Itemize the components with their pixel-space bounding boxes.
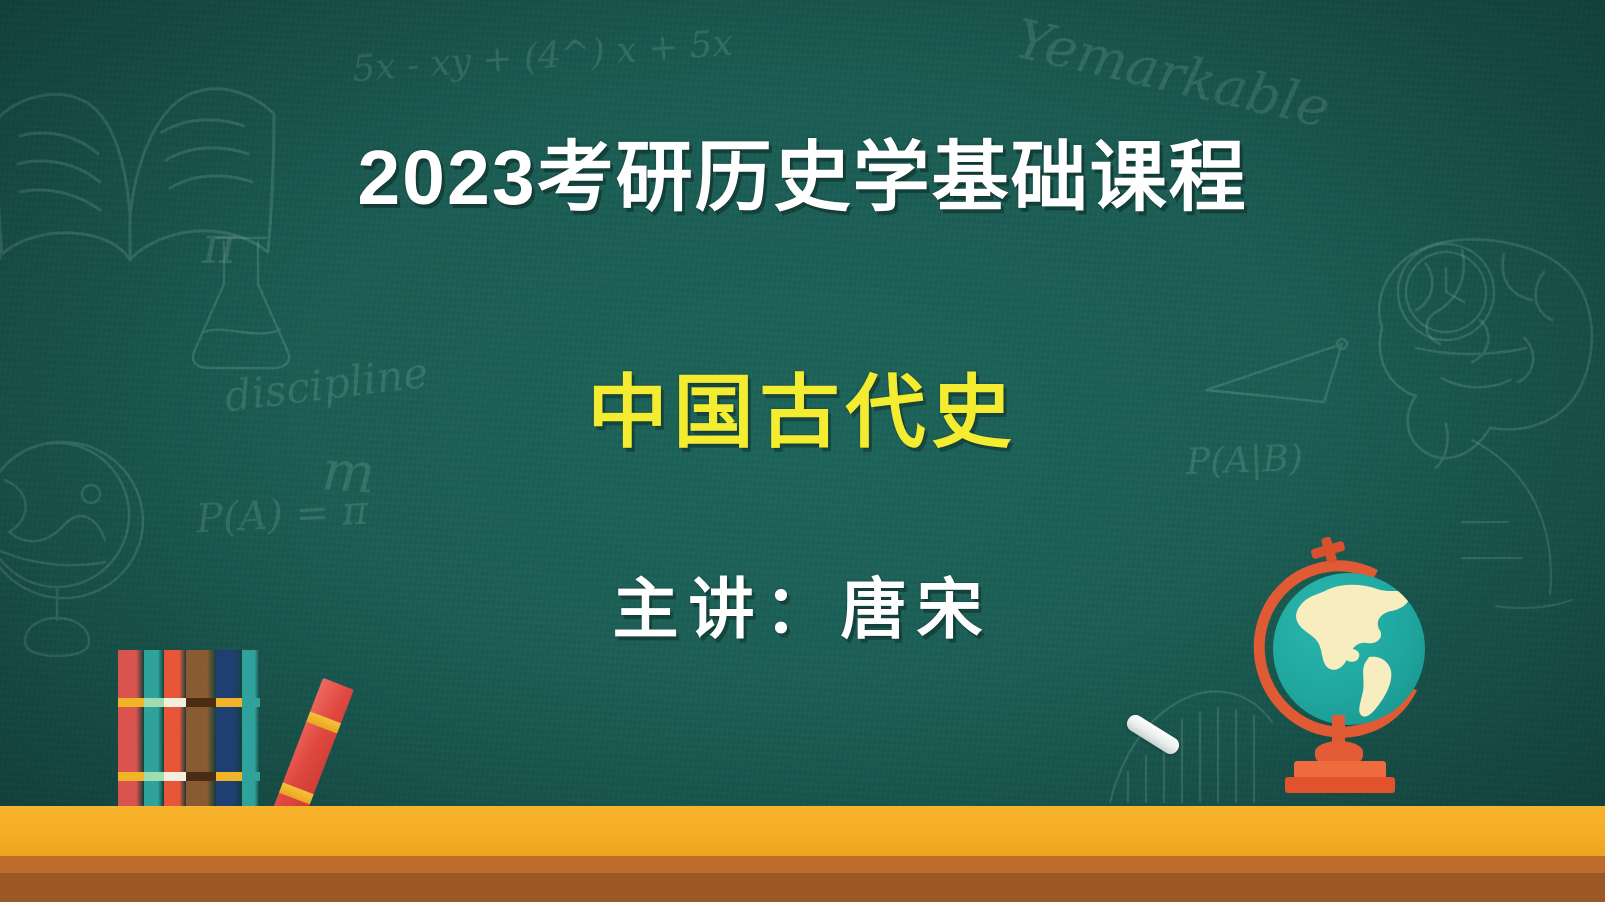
globe-knob bbox=[1315, 741, 1363, 763]
book-spine bbox=[216, 650, 242, 806]
book-spine bbox=[144, 650, 164, 806]
book-band bbox=[216, 772, 242, 781]
board-ledge-top bbox=[0, 806, 1605, 856]
globe-sphere bbox=[1273, 573, 1425, 725]
chalk-note-script-top: Yemarkable bbox=[1009, 7, 1336, 141]
book-band bbox=[186, 772, 216, 781]
course-subtitle: 中国古代史 bbox=[0, 348, 1605, 464]
book-spine bbox=[118, 650, 144, 806]
board-ledge-bottom bbox=[0, 873, 1605, 902]
book-stack bbox=[118, 650, 283, 806]
globe-model bbox=[1238, 533, 1448, 806]
chalk-note-formula-left: P(A) = π bbox=[195, 488, 369, 543]
book-band bbox=[242, 698, 260, 707]
board-ledge-mid bbox=[0, 856, 1605, 873]
blackboard: 5x - xy + (4^) x + 5x Yemarkable discipl… bbox=[0, 0, 1605, 806]
book-band bbox=[216, 698, 242, 707]
page-title: 2023考研历史学基础课程 bbox=[0, 138, 1605, 219]
book-band bbox=[164, 772, 186, 781]
book-spine bbox=[186, 650, 216, 806]
book-spine bbox=[164, 650, 186, 806]
clock-doodle bbox=[1382, 228, 1512, 358]
chalk-note-formula-top: 5x - xy + (4^) x + 5x bbox=[351, 23, 734, 90]
book-band bbox=[164, 698, 186, 707]
book-band bbox=[186, 698, 216, 707]
course-title-slide: 5x - xy + (4^) x + 5x Yemarkable discipl… bbox=[0, 0, 1605, 902]
book-band bbox=[118, 698, 144, 707]
globe-base-bottom bbox=[1285, 777, 1395, 793]
book-band bbox=[242, 772, 260, 781]
book-band bbox=[118, 772, 144, 781]
globe-continents-icon bbox=[1273, 573, 1425, 725]
book-spine bbox=[242, 650, 260, 806]
book-band bbox=[144, 698, 164, 707]
book-band bbox=[144, 772, 164, 781]
